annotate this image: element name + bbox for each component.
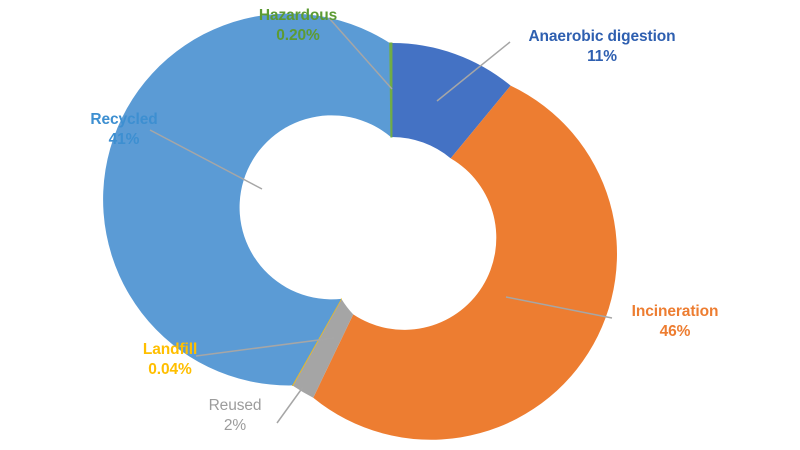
slice-label-landfill-name: Landfill xyxy=(120,340,220,360)
slice-label-hazardous-name: Hazardous xyxy=(238,6,358,26)
slice-label-anaerobic-digestion-name: Anaerobic digestion xyxy=(512,27,692,47)
slice-label-incineration: Incineration 46% xyxy=(610,302,740,342)
slice-label-reused-value: 2% xyxy=(186,416,284,436)
slice-label-hazardous: Hazardous 0.20% xyxy=(238,6,358,46)
slice-label-recycled-value: 41% xyxy=(68,130,180,150)
donut-chart-svg xyxy=(0,0,800,450)
slice-label-reused: Reused 2% xyxy=(186,396,284,436)
slice-label-landfill-value: 0.04% xyxy=(120,360,220,380)
slice-label-reused-name: Reused xyxy=(186,396,284,416)
slice-label-incineration-value: 46% xyxy=(610,322,740,342)
slice-label-landfill: Landfill 0.04% xyxy=(120,340,220,380)
slice-label-anaerobic-digestion-value: 11% xyxy=(512,47,692,67)
slice-label-hazardous-value: 0.20% xyxy=(238,26,358,46)
slice-label-recycled: Recycled 41% xyxy=(68,110,180,150)
donut-chart: Hazardous 0.20% Anaerobic digestion 11% … xyxy=(0,0,800,450)
slice-label-incineration-name: Incineration xyxy=(610,302,740,322)
slice-label-anaerobic-digestion: Anaerobic digestion 11% xyxy=(512,27,692,67)
slice-label-recycled-name: Recycled xyxy=(68,110,180,130)
